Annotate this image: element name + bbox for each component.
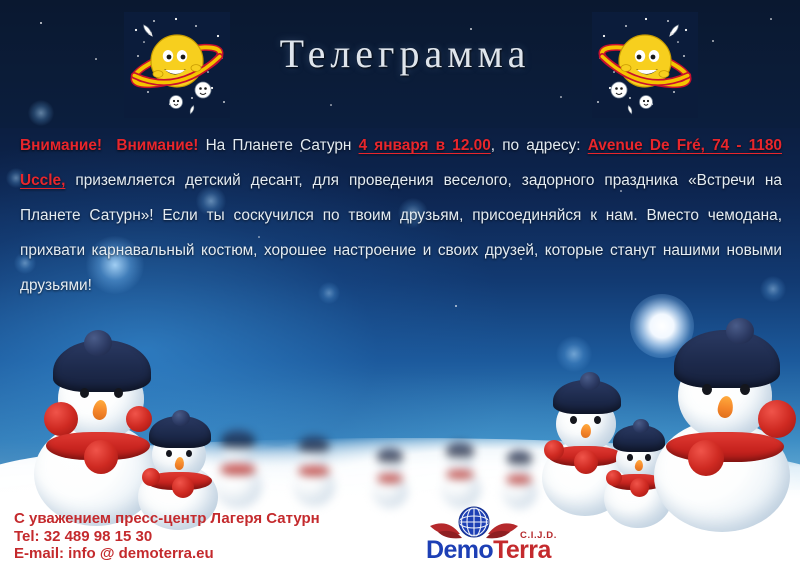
logo-wordmark: DemoTerra xyxy=(426,536,551,564)
saturn-planet-icon-left xyxy=(124,12,230,118)
bokeh-glow xyxy=(556,336,592,372)
logo-word-terra: Terra xyxy=(493,536,551,564)
snowman-background xyxy=(438,442,484,504)
demoterra-logo: C.I.J.D. DemoTerra xyxy=(424,504,584,560)
footer-email: E-mail: info @ demoterra.eu xyxy=(14,545,320,563)
telegram-paragraph: Внимание! Внимание! На Планете Сатурн 4 … xyxy=(20,128,782,303)
body-segment-1: На Планете Сатурн xyxy=(198,137,358,154)
body-segment-3: приземляется детский десант, для проведе… xyxy=(20,172,782,294)
telegram-poster: Телеграмма Внимание! Внимание! На Планет… xyxy=(0,0,800,564)
footer-contact-block: С уважением пресс-центр Лагеря Сатурн Te… xyxy=(14,510,320,563)
saturn-planet-icon-right xyxy=(592,12,698,118)
snowman-background xyxy=(370,448,410,504)
logo-word-demo: Demo xyxy=(426,536,493,564)
alert-word-2: Внимание! xyxy=(116,137,198,154)
footer-signature: С уважением пресс-центр Лагеря Сатурн xyxy=(14,510,320,528)
alert-word-1: Внимание! xyxy=(20,137,102,154)
page-title: Телеграмма xyxy=(240,30,570,77)
snowman-background xyxy=(290,436,338,502)
telegram-body: Внимание! Внимание! На Планете Сатурн 4 … xyxy=(20,128,782,303)
body-segment-2: , по адресу: xyxy=(491,137,588,154)
snowman-large-right xyxy=(640,328,800,520)
bokeh-glow xyxy=(28,100,54,126)
datetime-highlight: 4 января в 12.00 xyxy=(359,137,491,154)
footer-phone: Tel: 32 489 98 15 30 xyxy=(14,528,320,546)
snowman-small-left xyxy=(128,414,238,518)
